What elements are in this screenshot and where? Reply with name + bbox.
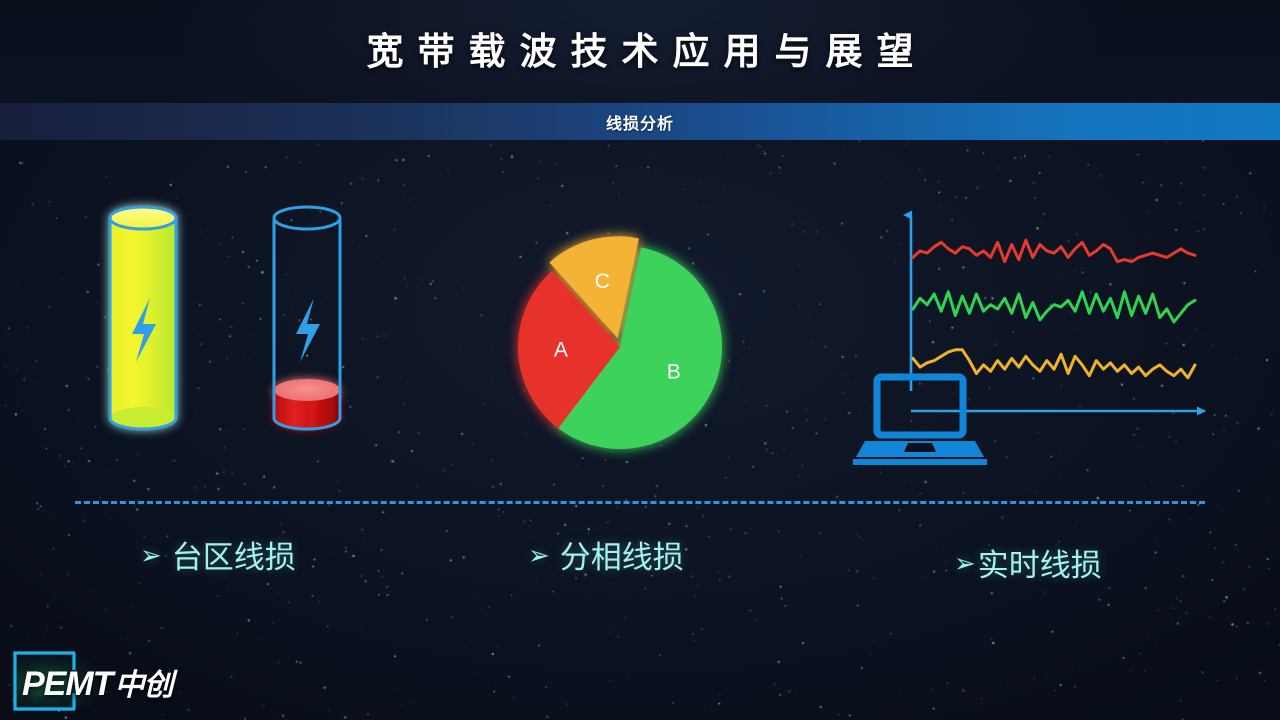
pie-label-B: B	[667, 361, 681, 384]
slide-root: 宽带载波技术应用与展望 线损分析	[0, 0, 1280, 720]
battery-cylinders-graphic	[80, 200, 400, 460]
page-title: 宽带载波技术应用与展望	[0, 24, 1280, 80]
subtitle-text: 线损分析	[0, 103, 1280, 140]
caption-area-loss: ➢ 台区线损	[140, 532, 296, 577]
laptop-icon	[853, 377, 987, 465]
logo-brand: PEMT	[22, 665, 112, 703]
content-stage: BAC	[0, 140, 1280, 720]
phase-loss-pie-chart: BAC	[480, 235, 760, 465]
pie-label-C: C	[595, 270, 610, 293]
lightning-bolt-icon	[296, 298, 320, 362]
caption-label: 台区线损	[172, 532, 296, 577]
section-divider	[75, 501, 1205, 504]
subtitle-bar: 线损分析	[0, 103, 1280, 140]
caption-realtime-loss: ➢ 实时线损	[954, 540, 1102, 585]
caption-label: 分相线损	[560, 532, 684, 577]
logo-brand-cn: 中创	[114, 669, 172, 702]
arrow-bullet-icon: ➢	[140, 542, 162, 568]
realtime-loss-line-chart	[845, 195, 1220, 465]
arrow-bullet-icon: ➢	[528, 542, 550, 568]
pie-slices	[518, 236, 722, 449]
series-red	[913, 240, 1195, 262]
arrow-bullet-icon: ➢	[954, 550, 976, 576]
logo-wordmark: PEMT中创	[22, 660, 172, 704]
brand-logo: PEMT中创	[8, 648, 198, 714]
caption-label: 实时线损	[978, 540, 1102, 585]
caption-phase-loss: ➢ 分相线损	[528, 532, 684, 577]
line-series-group	[913, 240, 1195, 378]
series-green	[913, 292, 1195, 322]
pie-label-A: A	[554, 338, 568, 361]
header-bar: 宽带载波技术应用与展望	[0, 0, 1280, 103]
